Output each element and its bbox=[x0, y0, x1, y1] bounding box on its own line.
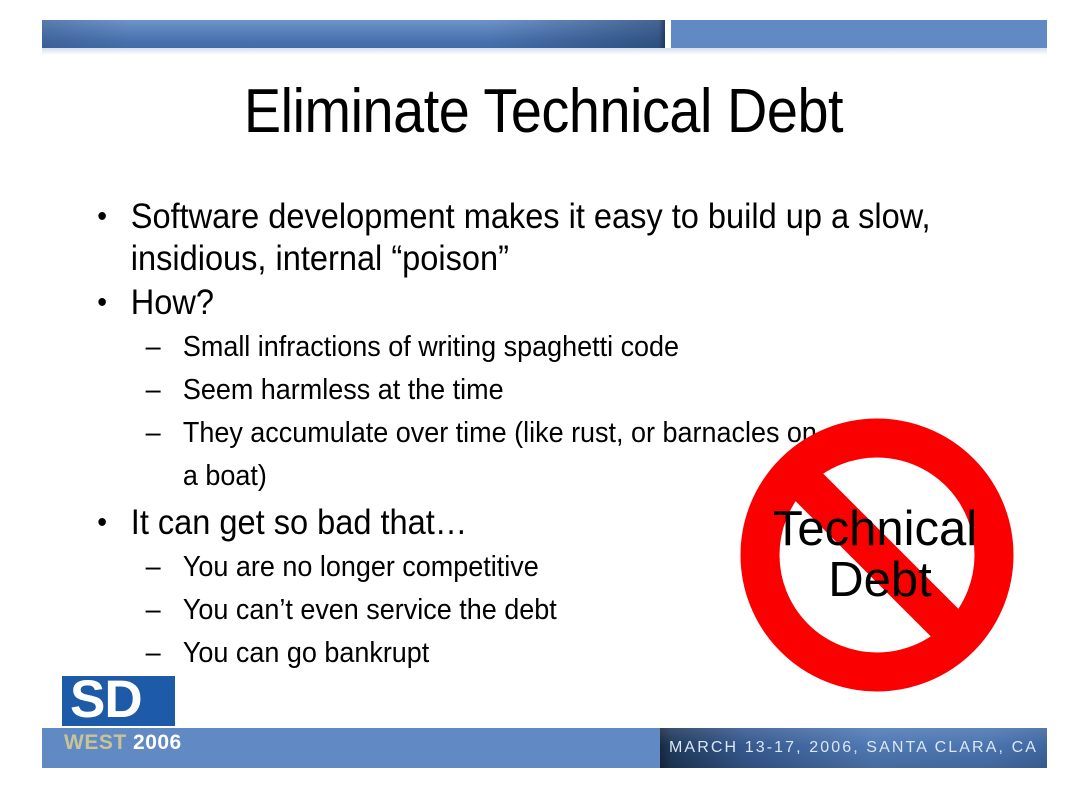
dash-marker-icon: – bbox=[146, 546, 161, 589]
dash-marker-icon: – bbox=[146, 589, 161, 632]
sd-logo-west: WEST bbox=[64, 731, 127, 754]
bullet-marker-icon: • bbox=[97, 282, 107, 324]
top-bar-divider bbox=[663, 20, 671, 48]
bullet-text: Seem harmless at the time bbox=[183, 374, 504, 406]
sd-logo-mark: SD bbox=[70, 671, 142, 728]
bullet-text: You can’t even service the debt bbox=[183, 594, 557, 626]
sd-logo-subtitle: WEST 2006 bbox=[64, 731, 182, 755]
dash-marker-icon: – bbox=[146, 632, 161, 675]
dash-marker-icon: – bbox=[146, 369, 161, 412]
bullet-level2: – Small infractions of writing spaghetti… bbox=[88, 326, 953, 369]
footer-date-location: MARCH 13-17, 2006, SANTA CLARA, CA bbox=[660, 728, 1047, 768]
bullet-text: How? bbox=[131, 283, 214, 322]
bullet-text: Software development makes it easy to bu… bbox=[131, 197, 931, 278]
slide-canvas: Eliminate Technical Debt • Software deve… bbox=[0, 0, 1087, 792]
no-entry-icon bbox=[740, 418, 1014, 692]
bullet-text: They accumulate over time (like rust, or… bbox=[183, 417, 817, 492]
bullet-level1: • Software development makes it easy to … bbox=[88, 196, 953, 280]
bullet-text: Small infractions of writing spaghetti c… bbox=[183, 331, 679, 363]
top-decoration-bar bbox=[42, 20, 1047, 48]
no-entry-slash bbox=[794, 472, 960, 638]
bullet-text: You can go bankrupt bbox=[183, 637, 429, 669]
bullet-level2: – Seem harmless at the time bbox=[88, 369, 953, 412]
top-bar-left-segment bbox=[42, 20, 665, 48]
bullet-marker-icon: • bbox=[97, 502, 107, 544]
dash-marker-icon: – bbox=[146, 326, 161, 369]
sd-logo-year: 2006 bbox=[133, 731, 182, 754]
top-bar-shadow bbox=[42, 48, 1047, 55]
sd-logo-box: SD bbox=[62, 676, 175, 726]
bullet-text: It can get so bad that… bbox=[131, 503, 468, 542]
prohibition-sign-graphic: Technical Debt bbox=[740, 418, 1014, 692]
dash-marker-icon: – bbox=[146, 412, 161, 455]
bullet-marker-icon: • bbox=[97, 196, 107, 238]
slide-title: Eliminate Technical Debt bbox=[54, 78, 1032, 146]
bullet-level1: • How? bbox=[88, 282, 953, 324]
top-bar-right-segment bbox=[671, 20, 1047, 48]
footer-band: MARCH 13-17, 2006, SANTA CLARA, CA bbox=[42, 728, 1047, 768]
bullet-text: You are no longer competitive bbox=[183, 551, 539, 583]
footer-band-right-segment: MARCH 13-17, 2006, SANTA CLARA, CA bbox=[660, 728, 1047, 768]
bullet-level2: – They accumulate over time (like rust, … bbox=[88, 412, 825, 498]
